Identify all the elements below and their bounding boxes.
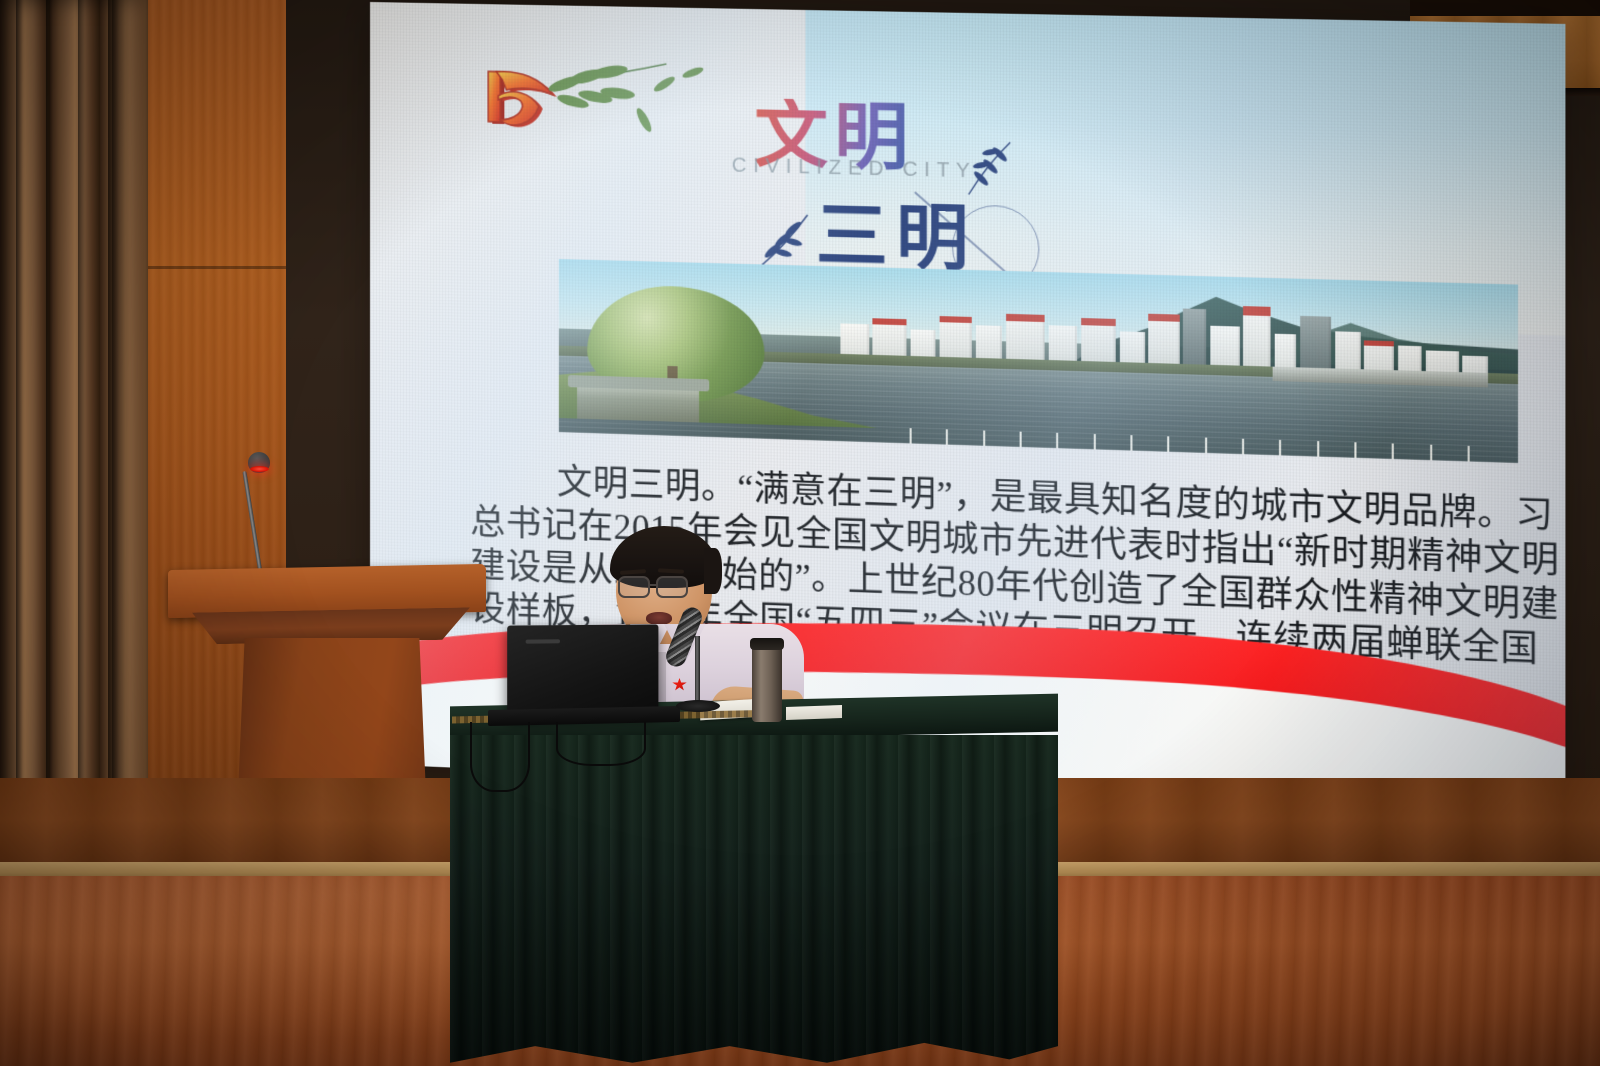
thermos-cap	[750, 638, 784, 650]
logo-leaf-icon-right	[958, 137, 1018, 207]
conference-scene: 文明 CIVILIZED CITY 三明	[0, 0, 1600, 1066]
table-skirt	[450, 735, 1058, 1066]
desk-microphone-base	[676, 700, 720, 712]
power-cable	[470, 722, 530, 792]
eyeglasses-icon-right	[656, 576, 688, 598]
sanming-city-photo	[559, 259, 1518, 463]
microphone-led-indicator	[250, 466, 269, 472]
power-cable	[556, 722, 646, 766]
desk-microphone-pole	[695, 636, 700, 706]
vacuum-thermos-bottle	[752, 644, 782, 722]
paper-documents-secondary	[786, 705, 842, 720]
laptop-computer[interactable]	[507, 624, 658, 719]
eyeglasses-icon	[618, 576, 650, 598]
presenter-mouth	[646, 612, 672, 625]
logo-subtitle-en: CIVILIZED CITY	[732, 154, 977, 183]
